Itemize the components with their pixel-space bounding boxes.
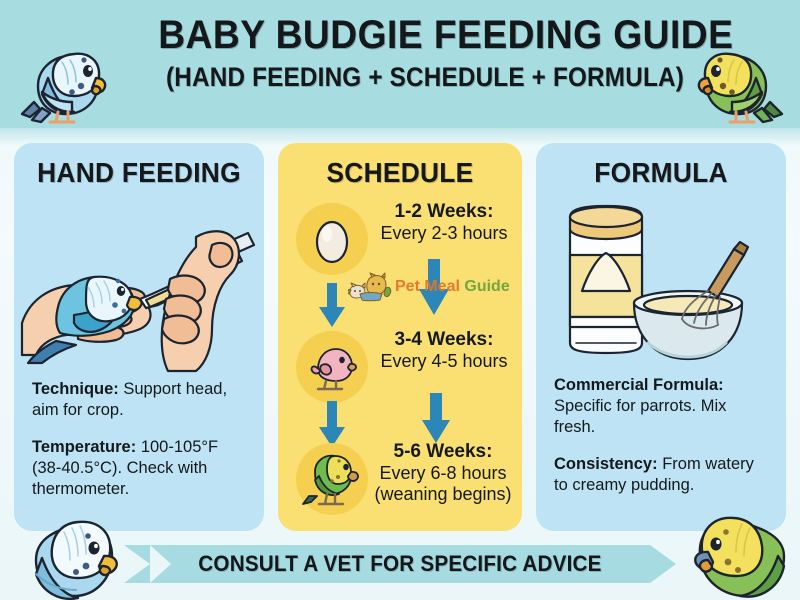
schedule-stage-0-detail: Every 2-3 hours — [370, 223, 518, 244]
schedule-arrow-left-0-icon — [318, 283, 346, 329]
title-block: BABY BUDGIE FEEDING GUIDE (HAND FEEDING … — [140, 14, 660, 93]
schedule-stage-1-heading: 3-4 Weeks: — [370, 329, 518, 351]
panel-schedule: SCHEDULE 1-2 Weeks: Every 2-3 hours — [278, 143, 522, 531]
footer-left-budgie-icon — [22, 508, 126, 600]
infographic-root: BABY BUDGIE FEEDING GUIDE (HAND FEEDING … — [0, 0, 800, 600]
formula-illustration — [548, 195, 774, 371]
chick-icon — [304, 339, 360, 395]
footer-banner-text: CONSULT A VET FOR SPECIFIC ADVICE — [165, 545, 635, 583]
hand-feeding-illustration — [20, 195, 260, 375]
schedule-stage-2-icon-circle — [296, 443, 368, 515]
pet-bowl-dog-cat-logo-icon — [348, 272, 392, 302]
watermark-text-secondary: Guide — [464, 278, 509, 295]
panel-title-formula: FORMULA — [544, 157, 779, 189]
schedule-arrow-right-1-icon — [421, 393, 451, 445]
banner-right-notch — [650, 545, 676, 583]
hand-feeding-item-0-label: Technique: — [32, 380, 119, 398]
schedule-stage-0-heading: 1-2 Weeks: — [370, 201, 518, 223]
page-title: BABY BUDGIE FEEDING GUIDE — [158, 14, 642, 56]
budgie-icon — [301, 448, 363, 510]
schedule-stage-0-text: 1-2 Weeks: Every 2-3 hours — [370, 201, 518, 244]
schedule-stage-1-text: 3-4 Weeks: Every 4-5 hours — [370, 329, 518, 372]
formula-item-0-label: Commercial Formula: — [554, 376, 724, 394]
egg-icon — [312, 214, 352, 264]
formula-body: Commercial Formula: Specific for parrots… — [554, 375, 770, 497]
formula-item-0-text: Specific for parrots. Mix fresh. — [554, 397, 726, 436]
page-subtitle: (HAND FEEDING + SCHEDULE + FORMULA) — [166, 62, 634, 93]
hand-feeding-item-1-label: Temperature: — [32, 438, 136, 456]
schedule-stage-2-heading: 5-6 Weeks: — [364, 441, 522, 463]
panel-formula: FORMULA — [536, 143, 786, 531]
formula-item-1: Consistency: From watery to creamy puddi… — [554, 454, 770, 496]
panel-hand-feeding: HAND FEEDING — [14, 143, 264, 531]
schedule-arrow-left-1-icon — [318, 401, 346, 449]
hand-feeding-item-1: Temperature: 100-105°F (38-40.5°C). Chec… — [32, 437, 248, 500]
watermark-text: Pet Meal Guide — [395, 278, 510, 296]
schedule-stage-2-detail: Every 6-8 hours — [364, 463, 522, 484]
panel-title-hand-feeding: HAND FEEDING — [22, 157, 257, 189]
schedule-stage-1-icon-circle — [296, 331, 368, 403]
formula-item-0: Commercial Formula: Specific for parrots… — [554, 375, 770, 438]
formula-item-1-label: Consistency: — [554, 455, 658, 473]
watermark-text-primary: Pet Meal — [395, 278, 460, 295]
schedule-stage-2-extra: (weaning begins) — [364, 484, 522, 505]
header-left-budgie-icon — [14, 16, 124, 128]
footer-right-budgie-icon — [684, 504, 794, 600]
panel-title-schedule: SCHEDULE — [285, 157, 514, 189]
schedule-stage-0-icon-circle — [296, 203, 368, 275]
banner-left-notch — [124, 545, 150, 583]
schedule-stage-2-text: 5-6 Weeks: Every 6-8 hours (weaning begi… — [364, 441, 522, 505]
hand-feeding-body: Technique: Support head, aim for crop. T… — [32, 379, 248, 501]
schedule-stage-1-detail: Every 4-5 hours — [370, 351, 518, 372]
watermark: Pet Meal Guide — [348, 272, 510, 302]
hand-feeding-item-0: Technique: Support head, aim for crop. — [32, 379, 248, 421]
footer-banner: CONSULT A VET FOR SPECIFIC ADVICE — [150, 545, 650, 583]
